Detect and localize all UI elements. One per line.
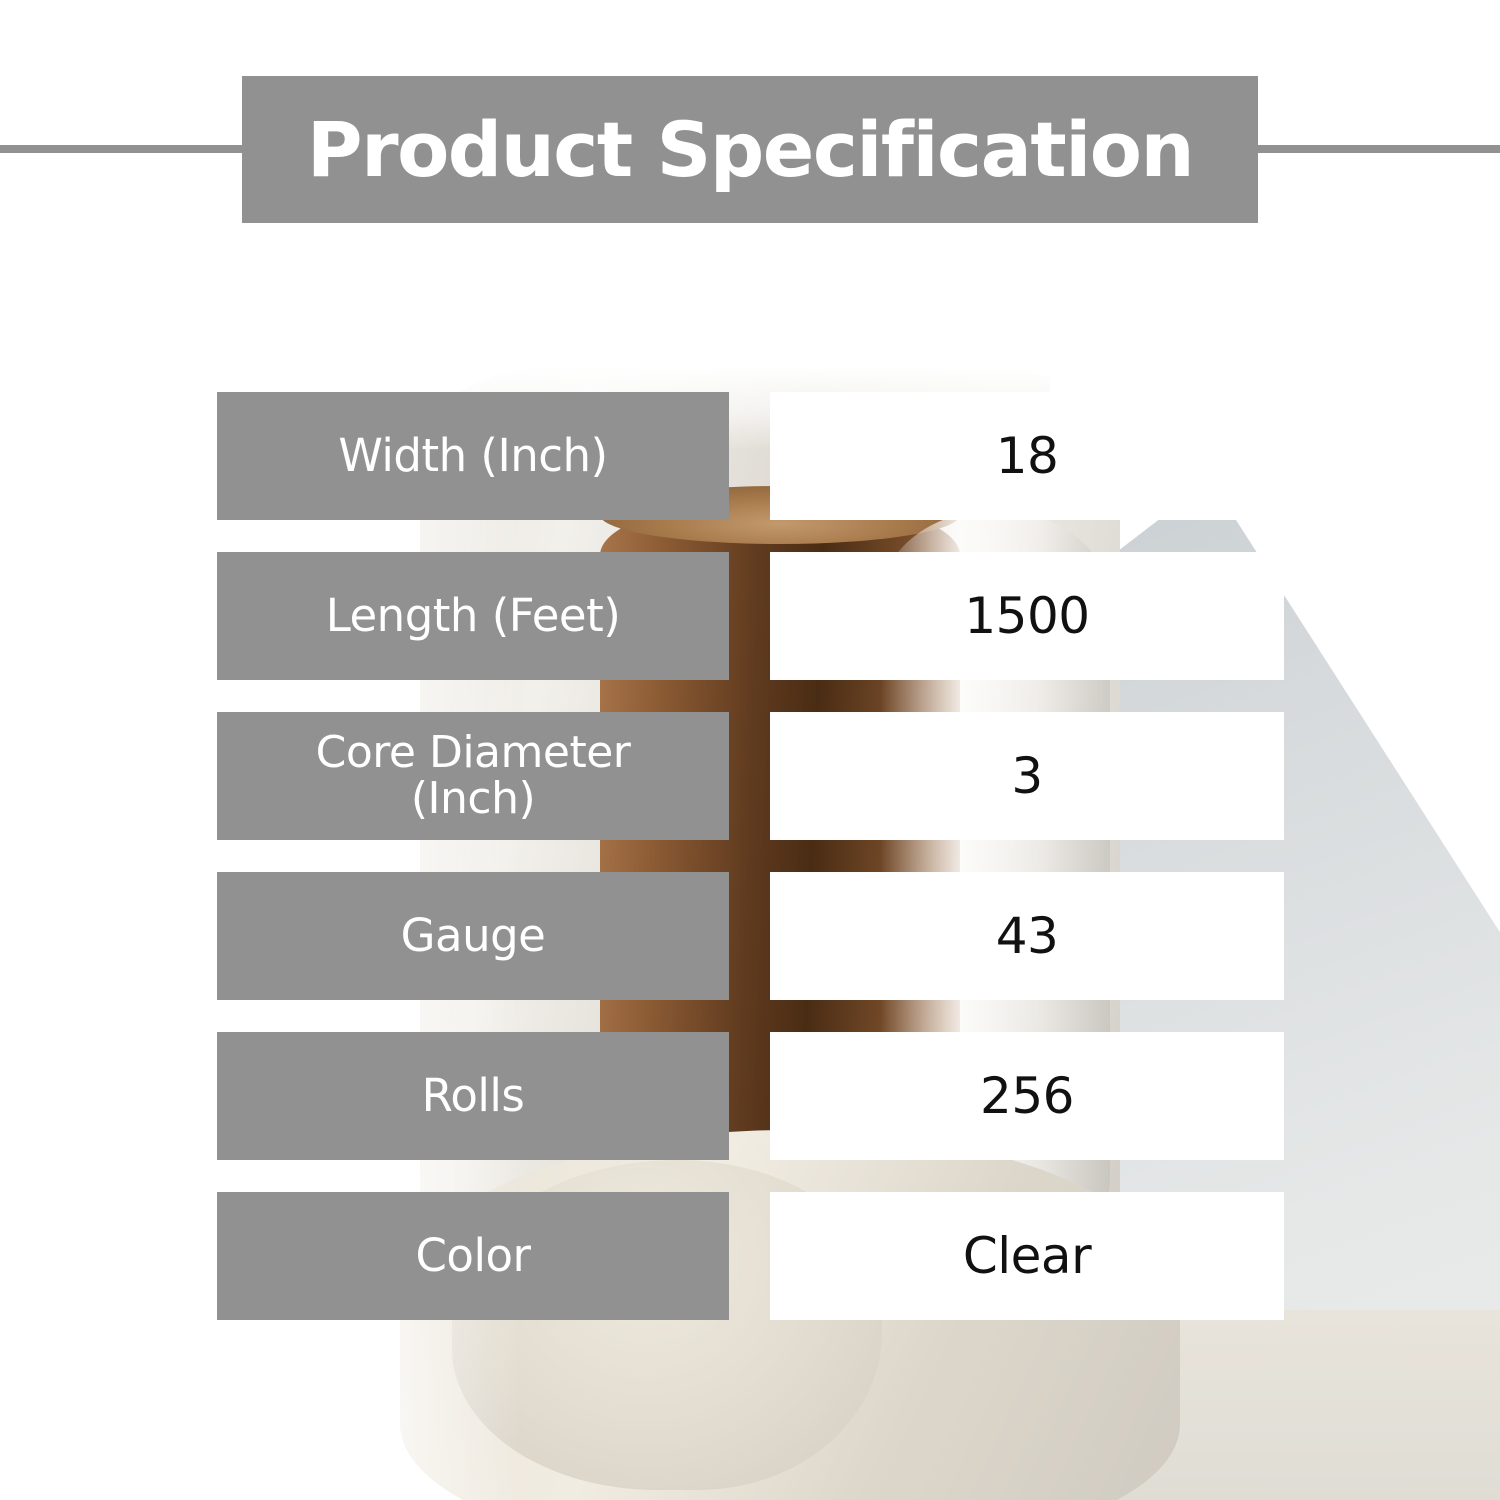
- spec-row-gauge: Gauge 43: [0, 872, 1500, 1000]
- product-specification-page: Product Specification Width (Inch) 18: [0, 0, 1500, 1500]
- spec-row-width: Width (Inch) 18: [0, 392, 1500, 520]
- spec-label-cell-gauge: Gauge: [217, 872, 729, 1000]
- spec-row-rolls: Rolls 256: [0, 1032, 1500, 1160]
- spec-value-rolls: 256: [980, 1071, 1074, 1121]
- spec-value-cell-rolls: 256: [770, 1032, 1284, 1160]
- spec-label-core-diameter: Core Diameter(Inch): [316, 730, 631, 822]
- spec-value-cell-color: Clear: [770, 1192, 1284, 1320]
- spec-label-cell-width: Width (Inch): [217, 392, 729, 520]
- spec-label-length: Length (Feet): [326, 592, 621, 640]
- spec-table: Width (Inch) 18 Length (Feet) 1500 Core …: [0, 0, 1500, 1500]
- spec-row-color: Color Clear: [0, 1192, 1500, 1320]
- spec-value-cell-core-diameter: 3: [770, 712, 1284, 840]
- spec-label-cell-color: Color: [217, 1192, 729, 1320]
- spec-row-length: Length (Feet) 1500: [0, 552, 1500, 680]
- spec-value-cell-length: 1500: [770, 552, 1284, 680]
- spec-label-width: Width (Inch): [338, 432, 607, 480]
- spec-label-cell-rolls: Rolls: [217, 1032, 729, 1160]
- spec-label-core-diameter-line1: Core Diameter: [316, 727, 631, 778]
- spec-label-color: Color: [416, 1232, 531, 1280]
- spec-value-color: Clear: [963, 1231, 1091, 1281]
- spec-value-cell-width: 18: [770, 392, 1284, 520]
- spec-row-core-diameter: Core Diameter(Inch) 3: [0, 712, 1500, 840]
- spec-label-cell-core-diameter: Core Diameter(Inch): [217, 712, 729, 840]
- spec-label-rolls: Rolls: [422, 1072, 525, 1120]
- spec-value-width: 18: [996, 431, 1059, 481]
- spec-value-gauge: 43: [996, 911, 1059, 961]
- spec-label-cell-length: Length (Feet): [217, 552, 729, 680]
- spec-label-core-diameter-line2: (Inch): [411, 773, 535, 824]
- spec-value-length: 1500: [964, 591, 1089, 641]
- spec-value-cell-gauge: 43: [770, 872, 1284, 1000]
- spec-label-gauge: Gauge: [401, 912, 546, 960]
- spec-value-core-diameter: 3: [1011, 751, 1042, 801]
